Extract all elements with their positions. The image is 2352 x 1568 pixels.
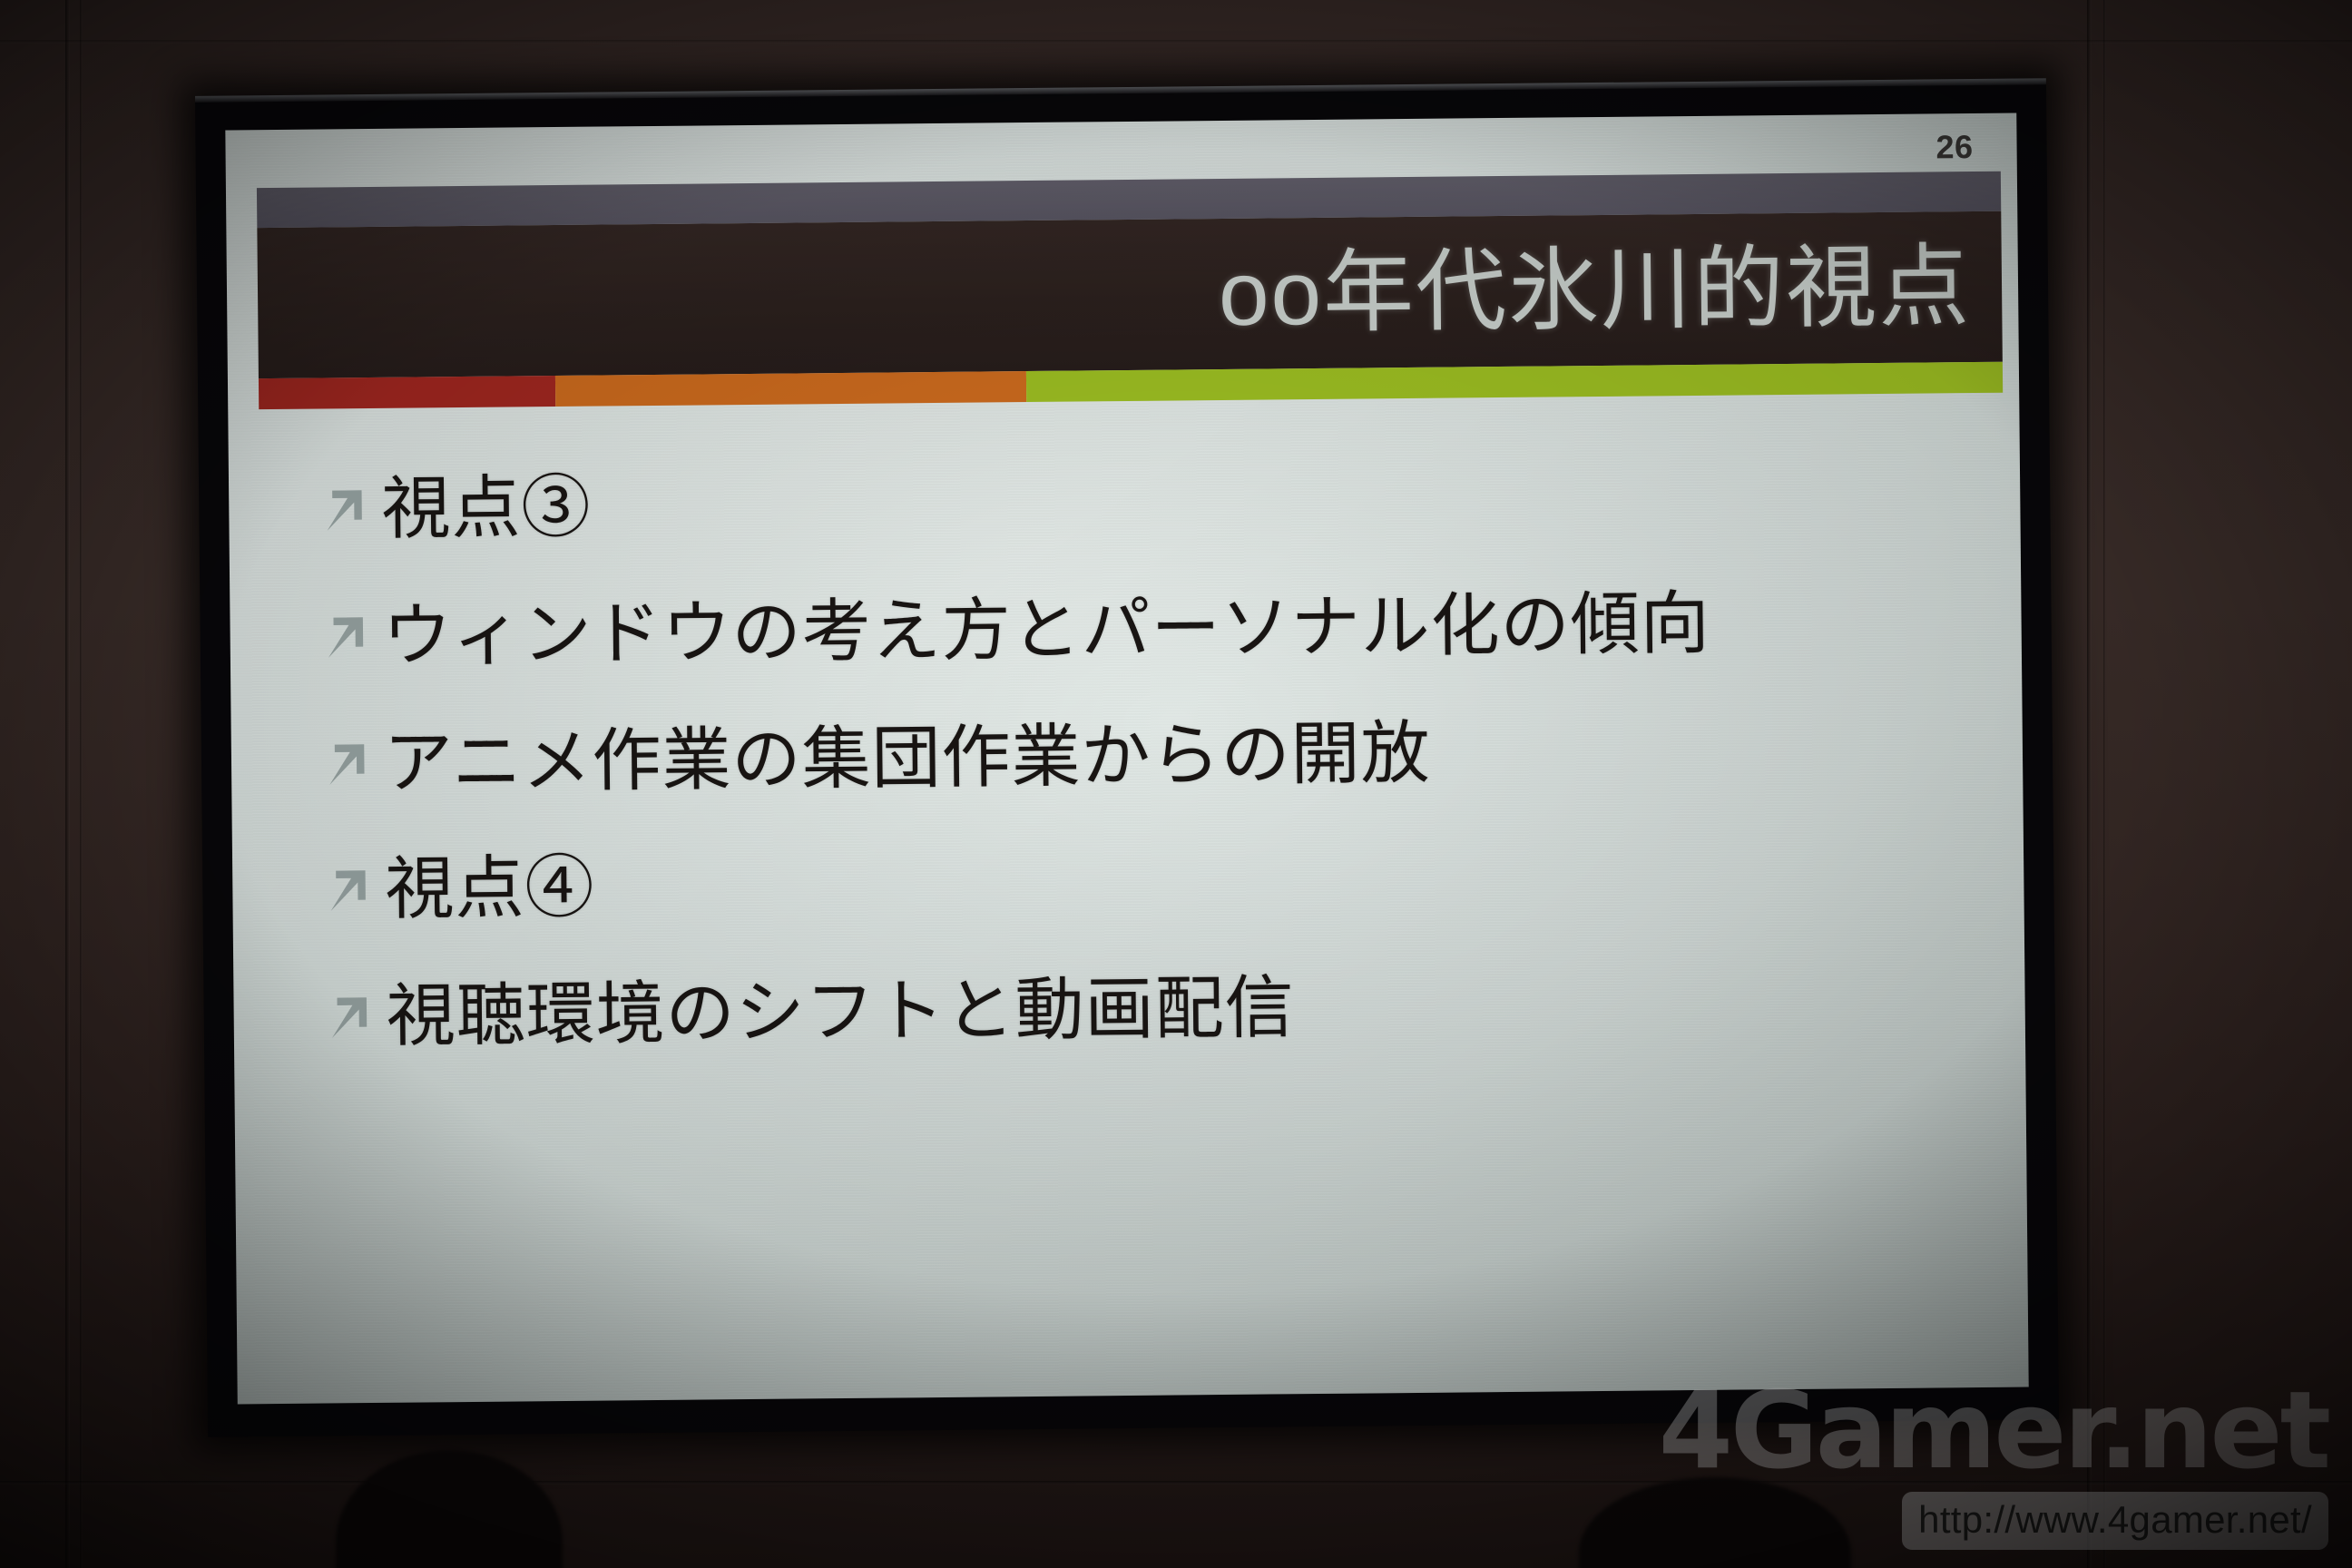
- bullet-text: 視点③: [381, 465, 592, 554]
- arrow-up-right-icon: [316, 477, 371, 545]
- wall-groove-right: [2087, 0, 2092, 1568]
- conference-room-photo: 26 oo年代氷川的視点 視点③ウィンドウの考え方とパーソナル化の傾向アニメ作業…: [0, 0, 2352, 1568]
- bullet-item: 視聴環境のシフトと動画配信: [320, 958, 1975, 1061]
- wall-groove-right-2: [2103, 0, 2106, 1568]
- bullet-text: 視聴環境のシフトと動画配信: [386, 965, 1295, 1060]
- arrow-up-right-icon: [319, 857, 375, 926]
- bullet-text: 視点④: [385, 845, 595, 934]
- wall-groove-left: [65, 0, 70, 1568]
- arrow-up-right-icon: [318, 730, 374, 799]
- arrow-up-right-icon: [317, 604, 372, 672]
- slide-page-number: 26: [1935, 128, 1973, 166]
- slide-title: oo年代氷川的視点: [1218, 241, 1971, 339]
- audience-silhouette-left: [336, 1450, 563, 1568]
- wall-groove-horizontal: [0, 1481, 2352, 1485]
- bullet-item: 視点③: [316, 451, 1970, 554]
- watermark-url: http://www.4gamer.net/: [1902, 1492, 2328, 1550]
- wall-groove-left-2: [80, 0, 83, 1568]
- presentation-slide: 26 oo年代氷川的視点 視点③ウィンドウの考え方とパーソナル化の傾向アニメ作業…: [225, 113, 2028, 1405]
- bullet-item: ウィンドウの考え方とパーソナル化の傾向: [317, 578, 1971, 681]
- bullet-list: 視点③ウィンドウの考え方とパーソナル化の傾向アニメ作業の集団作業からの開放視点④…: [316, 451, 1975, 1101]
- arrow-up-right-icon: [320, 985, 376, 1053]
- bullet-text: アニメ作業の集団作業からの開放: [384, 710, 1431, 807]
- accent-segment-red: [259, 376, 555, 409]
- bullet-text: ウィンドウの考え方とパーソナル化の傾向: [382, 581, 1710, 681]
- bullet-item: 視点④: [319, 831, 1974, 934]
- audience-silhouette-right: [1579, 1477, 1851, 1568]
- bullet-item: アニメ作業の集団作業からの開放: [318, 705, 1973, 808]
- accent-segment-orange: [555, 371, 1026, 407]
- wall-groove-top: [0, 40, 2352, 44]
- slide-title-block: oo年代氷川的視点: [257, 171, 2003, 378]
- projector-screen-frame: 26 oo年代氷川的視点 視点③ウィンドウの考え方とパーソナル化の傾向アニメ作業…: [195, 78, 2059, 1437]
- title-band: oo年代氷川的視点: [257, 211, 2003, 378]
